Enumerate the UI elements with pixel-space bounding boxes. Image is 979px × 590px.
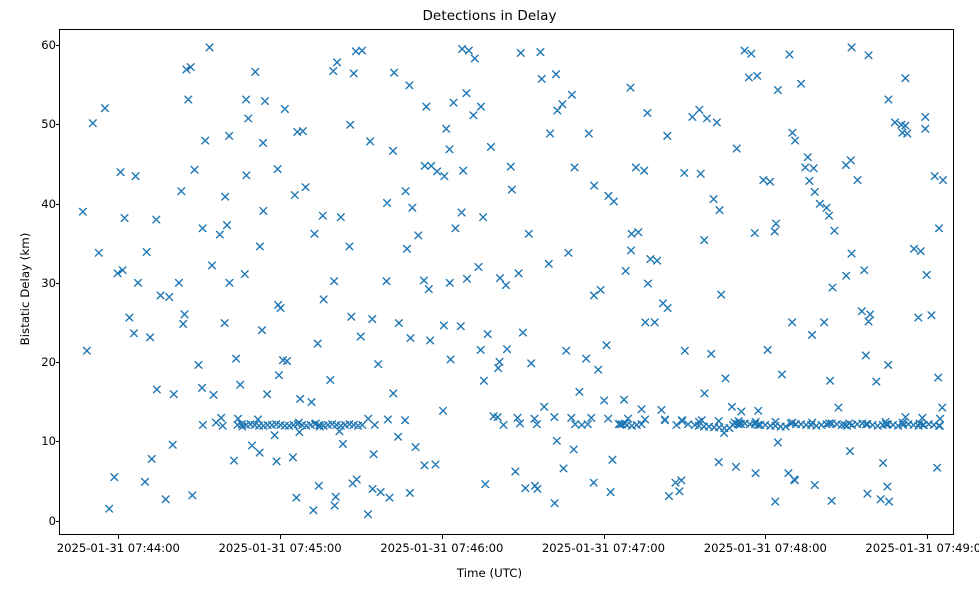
x-tick-label: 2025-01-31 07:49:00: [865, 541, 979, 555]
x-tick-mark: [442, 535, 443, 539]
y-axis-label: Bistatic Delay (km): [18, 159, 32, 419]
x-axis-label: Time (UTC): [0, 566, 979, 580]
x-tick-mark: [927, 535, 928, 539]
x-tick-label: 2025-01-31 07:45:00: [219, 541, 342, 555]
y-tick-label: 60: [41, 38, 56, 52]
x-tick-label: 2025-01-31 07:46:00: [380, 541, 503, 555]
x-tick-label: 2025-01-31 07:47:00: [542, 541, 665, 555]
y-tick-mark: [56, 283, 60, 284]
y-tick-mark: [56, 204, 60, 205]
y-tick-mark: [56, 124, 60, 125]
x-tick-label: 2025-01-31 07:48:00: [704, 541, 827, 555]
y-tick-label: 0: [49, 514, 56, 528]
y-tick-mark: [56, 521, 60, 522]
chart-title: Detections in Delay: [0, 8, 979, 24]
x-tick-mark: [765, 535, 766, 539]
y-tick-label: 40: [41, 197, 56, 211]
y-tick-label: 50: [41, 117, 56, 131]
x-tick-mark: [118, 535, 119, 539]
x-tick-mark: [280, 535, 281, 539]
scatter-points-layer: [60, 30, 953, 534]
y-tick-mark: [56, 441, 60, 442]
chart-figure: Detections in Delay 2025-01-31 07:44:002…: [0, 0, 979, 590]
x-tick-label: 2025-01-31 07:44:00: [57, 541, 180, 555]
y-tick-label: 20: [41, 355, 56, 369]
y-tick-mark: [56, 362, 60, 363]
y-tick-mark: [56, 45, 60, 46]
x-tick-mark: [604, 535, 605, 539]
y-tick-label: 10: [41, 434, 56, 448]
plot-area: [59, 29, 954, 535]
y-tick-label: 30: [41, 276, 56, 290]
scatter-markers: [80, 44, 947, 518]
